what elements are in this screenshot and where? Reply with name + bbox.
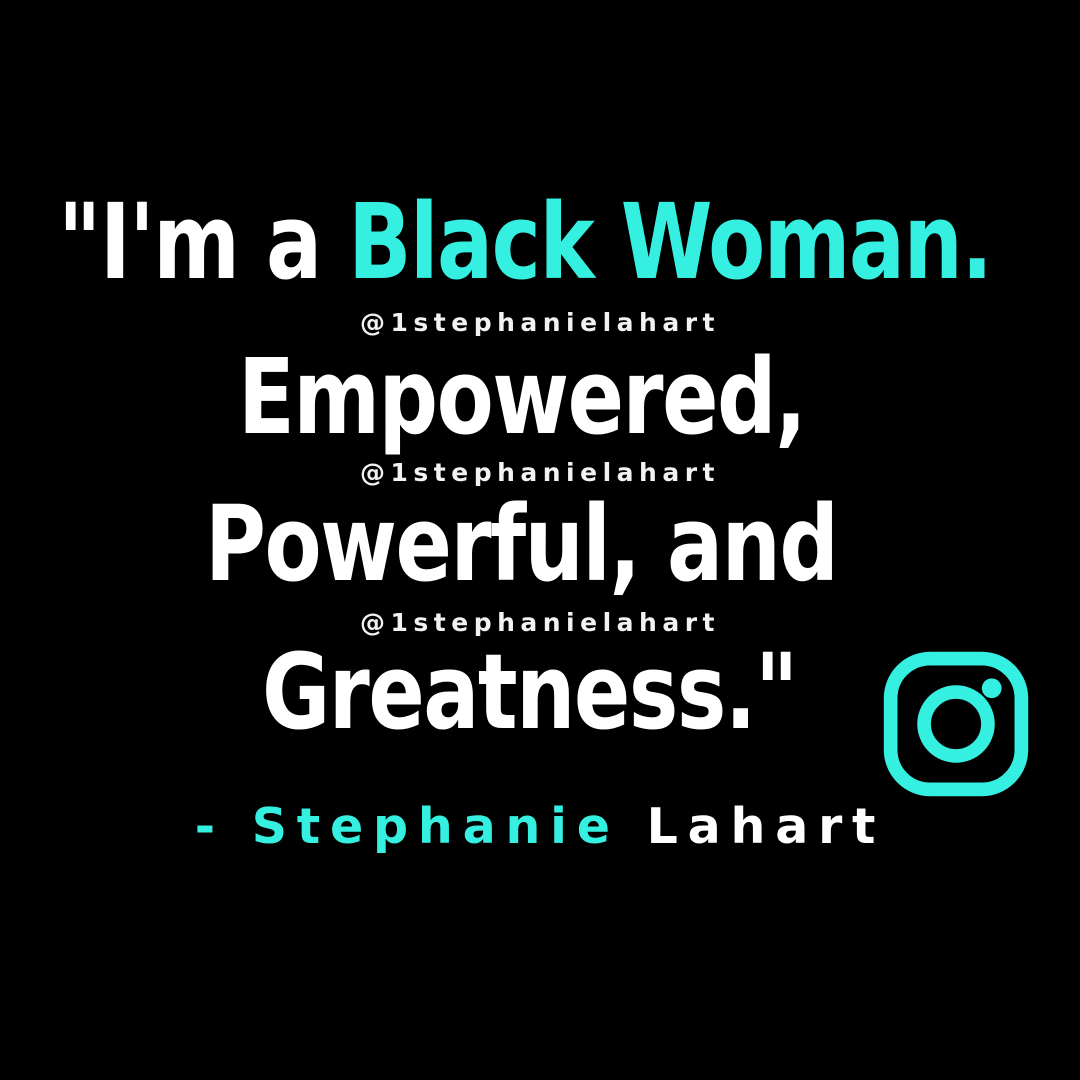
quote-line-3-segment: Powerful, and xyxy=(205,483,837,605)
quote-line-2: Empowered, xyxy=(238,345,947,449)
quote-line-4-segment: Greatness." xyxy=(262,631,797,753)
attribution-author-surname xyxy=(620,798,647,855)
instagram-icon[interactable] xyxy=(876,648,1036,800)
quote-line-3: Powerful, and xyxy=(205,492,996,596)
attribution-surname-text: Lahart xyxy=(647,798,886,855)
quote-line-1-segment-accent: Black Woman. xyxy=(348,181,991,303)
watermark-handle-2: @1stephanielahart xyxy=(0,460,1080,485)
quote-card: "I'm a Black Woman. @1stephanielahart Em… xyxy=(0,0,1080,1080)
attribution-author-first: - Stephanie xyxy=(195,798,620,855)
quote-line-2-segment: Empowered, xyxy=(238,336,805,458)
quote-line-1: "I'm a Black Woman. xyxy=(58,190,1080,294)
watermark-handle-1: @1stephanielahart xyxy=(0,310,1080,335)
attribution: - Stephanie Lahart xyxy=(0,802,1080,851)
quote-line-1-segment-white: "I'm a xyxy=(58,181,348,303)
quote-line-4: Greatness." xyxy=(262,640,931,744)
